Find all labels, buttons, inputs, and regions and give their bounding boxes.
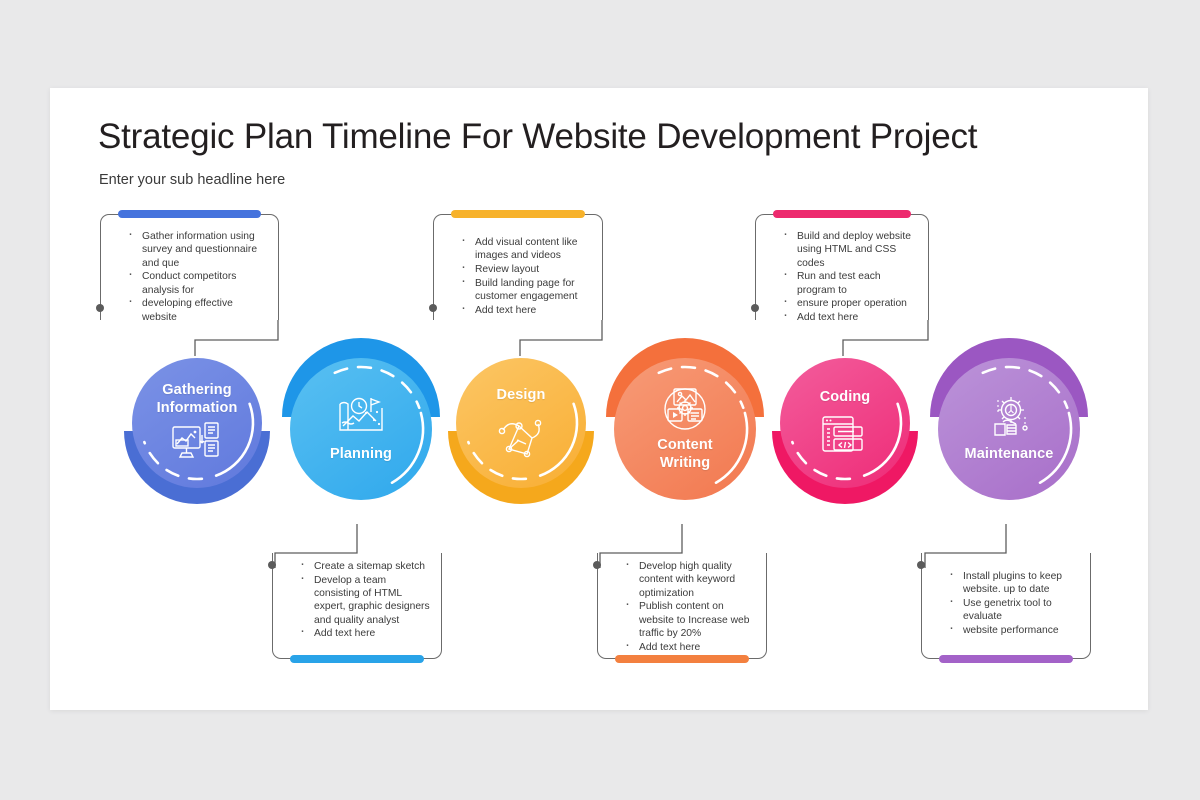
callout-terminal-dot — [917, 561, 925, 569]
callout-accent-bar — [118, 210, 261, 218]
step-circle-content-writing[interactable]: Content Writing — [614, 358, 756, 500]
step-circle-planning[interactable]: Planning — [290, 358, 432, 500]
list-item: Develop a team consisting of HTML expert… — [298, 574, 432, 627]
step-node-maintenance[interactable]: Maintenance — [930, 338, 1088, 496]
callout-terminal-dot — [268, 561, 276, 569]
step-label-line2: Writing — [660, 455, 710, 471]
callout-bullet-list: Develop high quality content with keywor… — [623, 560, 757, 654]
list-item: Conduct competitors analysis for — [126, 270, 269, 297]
callout-accent-bar — [939, 655, 1073, 663]
callout-accent-bar — [773, 210, 911, 218]
list-item: Develop high quality content with keywor… — [623, 560, 757, 600]
page-subtitle: Enter your sub headline here — [99, 172, 285, 188]
slide-card: Strategic Plan Timeline For Website Deve… — [50, 88, 1148, 710]
step-label-line1: Content — [657, 437, 712, 453]
step-label-line1: Planning — [330, 446, 392, 462]
step-circle-design[interactable]: Design — [456, 358, 586, 488]
code-windows-icon — [820, 413, 870, 457]
callout-bullet-list: Build and deploy website using HTML and … — [781, 230, 919, 325]
list-item: Add text here — [459, 304, 593, 317]
callout-bullet-list: Add visual content like images and video… — [459, 236, 593, 318]
step-node-planning[interactable]: Planning — [282, 338, 440, 496]
callout-terminal-dot — [593, 561, 601, 569]
step-label-line1: Coding — [820, 389, 871, 405]
step-circle-maintenance[interactable]: Maintenance — [938, 358, 1080, 500]
callout-bullet-list: Gather information using survey and ques… — [126, 230, 269, 324]
gear-wrench-hand-icon — [985, 394, 1033, 438]
callout-planning[interactable]: Create a sitemap sketch Develop a team c… — [272, 553, 442, 659]
list-item: Add visual content like images and video… — [459, 236, 593, 263]
media-gear-content-icon — [661, 386, 709, 432]
callout-terminal-dot — [751, 304, 759, 312]
list-item: Install plugins to keep website. up to d… — [947, 570, 1081, 597]
callout-design[interactable]: Add visual content like images and video… — [433, 214, 603, 320]
step-node-content-writing[interactable]: Content Writing — [606, 338, 764, 496]
step-circle-gathering-information[interactable]: Gathering Information — [132, 358, 262, 488]
step-label-line1: Gathering — [162, 382, 231, 398]
list-item: Use genetrix tool to evaluate — [947, 597, 1081, 624]
callout-coding[interactable]: Build and deploy website using HTML and … — [755, 214, 929, 320]
list-item: Run and test each program to — [781, 270, 919, 297]
callout-accent-bar — [451, 210, 585, 218]
step-circle-coding[interactable]: Coding — [780, 358, 910, 488]
page-title: Strategic Plan Timeline For Website Deve… — [98, 117, 977, 157]
callout-accent-bar — [615, 655, 749, 663]
map-clock-flag-icon — [335, 394, 387, 438]
step-label-line1: Maintenance — [965, 446, 1054, 462]
callout-terminal-dot — [96, 304, 104, 312]
pen-tool-bezier-icon — [496, 413, 546, 459]
list-item: Create a sitemap sketch — [298, 560, 432, 573]
list-item: Gather information using survey and ques… — [126, 230, 269, 270]
step-label-line1: Design — [497, 387, 546, 403]
list-item: Add text here — [623, 641, 757, 654]
callout-maintenance[interactable]: Install plugins to keep website. up to d… — [921, 553, 1091, 659]
list-item: website performance — [947, 624, 1081, 637]
list-item: Review layout — [459, 263, 593, 276]
monitor-analytics-documents-icon — [171, 422, 223, 464]
list-item: Build landing page for customer engageme… — [459, 277, 593, 304]
callout-gathering-information[interactable]: Gather information using survey and ques… — [100, 214, 279, 320]
step-label-line2: Information — [157, 400, 238, 416]
callout-content-writing[interactable]: Develop high quality content with keywor… — [597, 553, 767, 659]
list-item: Build and deploy website using HTML and … — [781, 230, 919, 270]
list-item: Add text here — [298, 627, 432, 640]
list-item: ensure proper operation — [781, 297, 919, 310]
list-item: Publish content on website to Increase w… — [623, 600, 757, 640]
callout-accent-bar — [290, 655, 424, 663]
callout-bullet-list: Create a sitemap sketch Develop a team c… — [298, 560, 432, 641]
list-item: developing effective website — [126, 297, 269, 324]
step-node-gathering-information[interactable]: Gathering Information — [124, 358, 270, 504]
callout-bullet-list: Install plugins to keep website. up to d… — [947, 570, 1081, 638]
step-node-design[interactable]: Design — [448, 358, 594, 504]
step-node-coding[interactable]: Coding — [772, 358, 918, 504]
list-item: Add text here — [781, 311, 919, 324]
callout-terminal-dot — [429, 304, 437, 312]
